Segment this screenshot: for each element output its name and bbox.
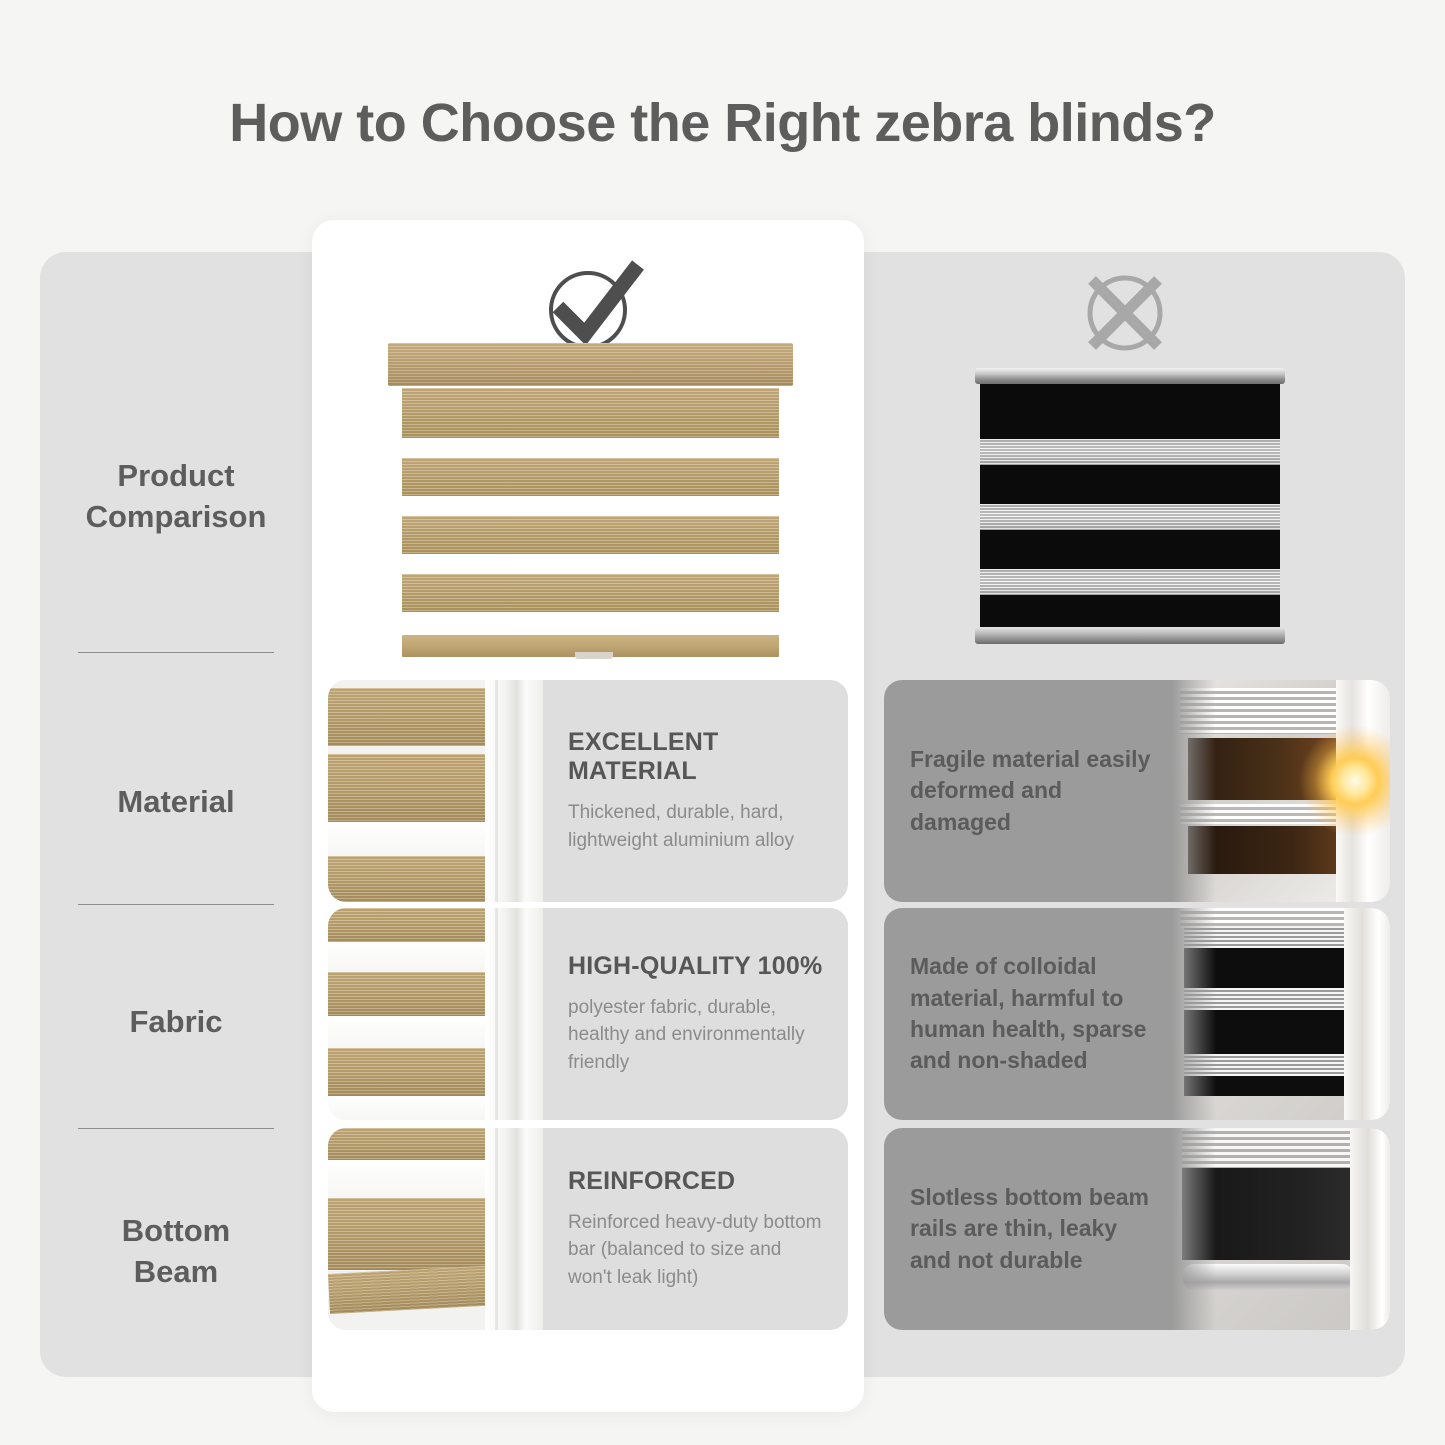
- feature-heading: REINFORCED: [568, 1167, 830, 1196]
- bad-feature-image-material: [1172, 680, 1390, 902]
- blind-sheer-stripe: [980, 569, 1280, 595]
- good-feature-image-fabric: [328, 908, 543, 1120]
- blind-slat: [328, 856, 503, 902]
- feature-body: Reinforced heavy-duty bottom bar (balanc…: [568, 1209, 830, 1292]
- rail-label-material: Material: [40, 757, 312, 847]
- bad-feature-text-material: Fragile material easily deformed and dam…: [910, 680, 1160, 902]
- feature-heading: EXCELLENT MATERIAL: [568, 728, 830, 786]
- blind-bottom-bar: [402, 635, 779, 657]
- hero-beige-zebra-blind: [388, 343, 793, 668]
- window-frame: [485, 908, 543, 1120]
- rail-divider: [78, 904, 274, 905]
- infographic-page: How to Choose the Right zebra blinds? Pr…: [0, 0, 1445, 1445]
- page-title: How to Choose the Right zebra blinds?: [0, 92, 1445, 154]
- blind-sheer-stripe: [980, 439, 1280, 465]
- blind-slat: [328, 688, 503, 746]
- photo-fade: [1172, 680, 1216, 902]
- feature-body: Fragile material easily deformed and dam…: [910, 744, 1160, 838]
- blind-gap: [328, 822, 503, 856]
- blind-slat: [328, 1128, 503, 1160]
- bad-feature-card-fabric: Made of colloidal material, harmful to h…: [884, 908, 1390, 1120]
- window-frame: [485, 1128, 543, 1330]
- good-feature-image-bottom-beam: [328, 1128, 543, 1330]
- blind-gap: [328, 1160, 503, 1198]
- rail-label-fabric: Fabric: [40, 977, 312, 1067]
- rail-label-line: Bottom: [122, 1211, 230, 1252]
- rail-label-line: Product: [86, 456, 267, 497]
- blind-sheer-stripe: [980, 504, 1280, 530]
- photo-fade: [1172, 908, 1216, 1120]
- blind-stripe: [402, 458, 779, 496]
- feature-body: polyester fabric, durable, healthy and e…: [568, 994, 830, 1077]
- check-circle-icon: [540, 255, 650, 355]
- blind-slat: [328, 1048, 503, 1096]
- reinforced-bottom-bar: [328, 1265, 505, 1314]
- rail-label-line: Comparison: [86, 497, 267, 538]
- good-feature-card-material: EXCELLENT MATERIAL Thickened, durable, h…: [328, 680, 848, 902]
- window-frame: [485, 680, 543, 902]
- rail-label-line: Beam: [122, 1252, 230, 1293]
- blind-gap: [328, 1096, 503, 1120]
- good-feature-card-fabric: HIGH-QUALITY 100% polyester fabric, dura…: [328, 908, 848, 1120]
- blind-stripe: [402, 388, 779, 438]
- bad-feature-card-material: Fragile material easily deformed and dam…: [884, 680, 1390, 902]
- bad-feature-image-fabric: [1172, 908, 1390, 1120]
- rail-label-bottom-beam: Bottom Beam: [40, 1177, 312, 1327]
- feature-heading: HIGH-QUALITY 100%: [568, 952, 830, 981]
- blind-body: [980, 384, 1280, 627]
- window-frame: [1350, 1128, 1390, 1330]
- blind-slat: [328, 1198, 503, 1270]
- rail-divider: [78, 652, 274, 653]
- blind-gap: [328, 942, 503, 972]
- blind-bottom-rail: [975, 627, 1285, 644]
- photo-fade: [1172, 1128, 1216, 1330]
- rail-label-product-comparison: Product Comparison: [40, 422, 312, 572]
- window-frame: [1344, 908, 1390, 1120]
- good-feature-text-fabric: HIGH-QUALITY 100% polyester fabric, dura…: [568, 908, 830, 1120]
- feature-body: Made of colloidal material, harmful to h…: [910, 951, 1160, 1076]
- blind-gap: [328, 1016, 503, 1048]
- blind-slat: [328, 754, 503, 822]
- blind-valance: [388, 343, 793, 386]
- good-feature-image-material: [328, 680, 543, 902]
- blind-slat: [328, 972, 503, 1016]
- cross-circle-icon: [1077, 265, 1173, 361]
- bad-feature-text-fabric: Made of colloidal material, harmful to h…: [910, 908, 1160, 1120]
- rail-divider: [78, 1128, 274, 1129]
- blind-stripe: [402, 574, 779, 612]
- sun-glare: [1300, 726, 1390, 836]
- blind-headrail: [975, 368, 1285, 384]
- good-feature-text-material: EXCELLENT MATERIAL Thickened, durable, h…: [568, 680, 830, 902]
- category-rail: Product Comparison Material Fabric Botto…: [40, 252, 312, 1377]
- bad-feature-card-bottom-beam: Slotless bottom beam rails are thin, lea…: [884, 1128, 1390, 1330]
- feature-body: Thickened, durable, hard, lightweight al…: [568, 799, 830, 854]
- good-feature-card-bottom-beam: REINFORCED Reinforced heavy-duty bottom …: [328, 1128, 848, 1330]
- blind-slat: [328, 908, 503, 942]
- good-feature-text-bottom-beam: REINFORCED Reinforced heavy-duty bottom …: [568, 1128, 830, 1330]
- bad-feature-text-bottom-beam: Slotless bottom beam rails are thin, lea…: [910, 1128, 1160, 1330]
- blind-stripe: [402, 516, 779, 554]
- feature-body: Slotless bottom beam rails are thin, lea…: [910, 1182, 1160, 1276]
- hero-black-zebra-blind: [975, 368, 1285, 644]
- bad-feature-image-bottom-beam: [1172, 1128, 1390, 1330]
